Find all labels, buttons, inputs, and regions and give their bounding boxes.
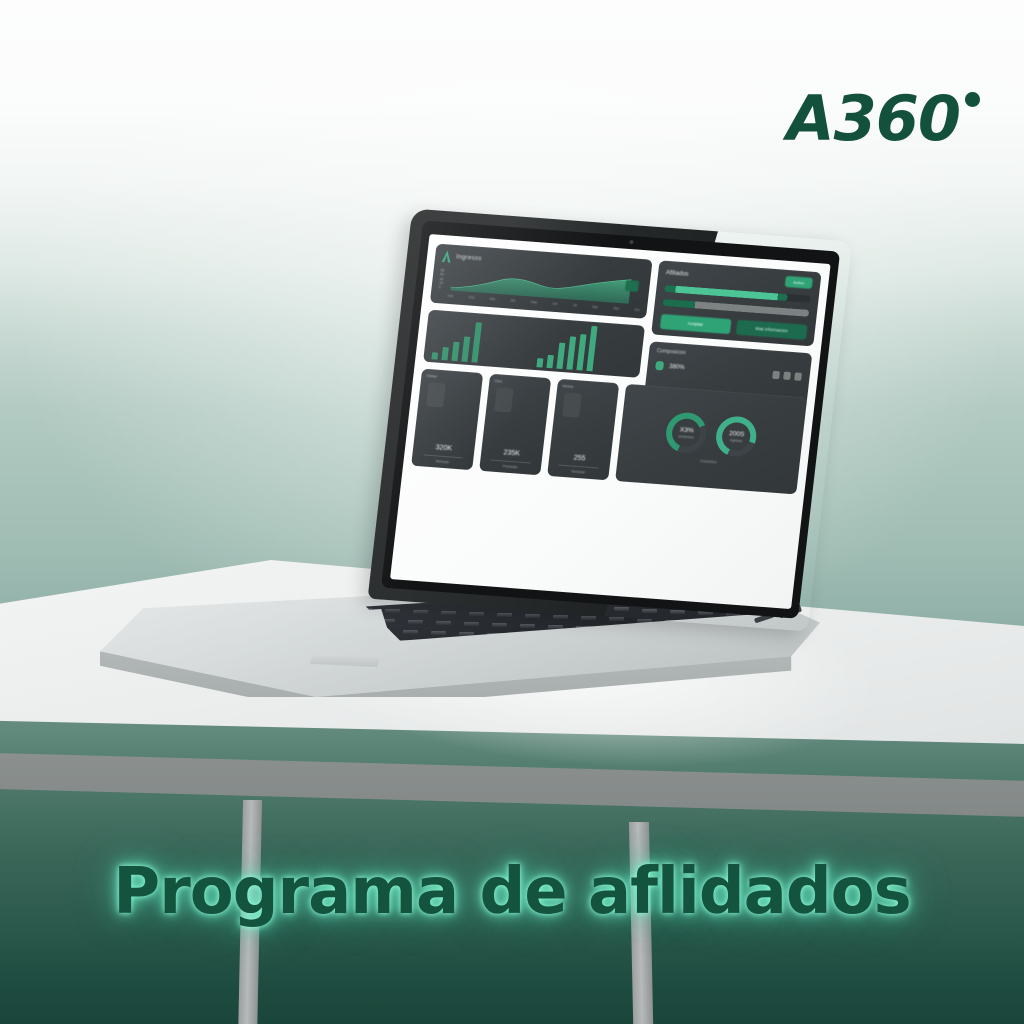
stat-card[interactable]: Clics 235K Promedio bbox=[479, 374, 551, 476]
chart-tooltip bbox=[624, 280, 638, 292]
stat-thumbnail bbox=[494, 387, 514, 412]
webcam-icon bbox=[629, 240, 633, 244]
chart-x-tick: Sep bbox=[613, 306, 619, 310]
keyboard-key[interactable] bbox=[497, 613, 512, 617]
chart-x-tick: Jul bbox=[573, 303, 578, 307]
revenue-chart-card[interactable]: Ingresos 806040200 bbox=[430, 244, 652, 319]
chart-x-tick: Feb bbox=[469, 295, 475, 299]
bar bbox=[576, 334, 586, 370]
accept-button[interactable]: Aceptar bbox=[659, 314, 731, 334]
avatar-icon-3 bbox=[794, 372, 802, 381]
bars-chart-card[interactable] bbox=[423, 310, 645, 378]
affiliate-header: Afiliados Activo bbox=[665, 267, 813, 289]
stat-value: 235K bbox=[503, 449, 520, 457]
laptop: Ingresos 806040200 bbox=[100, 225, 880, 695]
chart-x-tick: Mar bbox=[489, 297, 495, 301]
chart-title: Ingresos bbox=[456, 254, 482, 262]
gauge-group: X3% conversion 200S ingresos bbox=[664, 411, 759, 458]
affiliate-card[interactable]: Afiliados Activo Aceptar Mas informacion bbox=[651, 260, 822, 346]
stat-subtitle: Mensual bbox=[436, 459, 449, 464]
gauge-value: 200S bbox=[729, 430, 745, 438]
bar bbox=[451, 342, 459, 362]
stat-value: 320K bbox=[435, 444, 452, 452]
keyboard-key[interactable] bbox=[492, 623, 507, 627]
keyboard-key[interactable] bbox=[581, 616, 596, 620]
chart-x-tick: Ene bbox=[448, 294, 454, 298]
affiliate-actions: Aceptar Mas informacion bbox=[659, 314, 807, 340]
chart-x-tick: Oct bbox=[634, 308, 639, 312]
composition-value: 380% bbox=[669, 363, 685, 370]
bar bbox=[586, 326, 597, 371]
stat-subtitle: Promedio bbox=[503, 464, 518, 469]
stat-divider bbox=[559, 465, 599, 469]
gauge-label: ingresos bbox=[730, 438, 743, 443]
affiliate-title: Afiliados bbox=[666, 269, 689, 277]
brand-logo-text: A360 bbox=[787, 88, 960, 150]
a-mark-icon bbox=[442, 250, 452, 263]
poster-canvas: A360 bbox=[0, 0, 1024, 1024]
bar-group-a bbox=[431, 314, 531, 366]
gauge-conversion: X3% conversion bbox=[664, 411, 709, 454]
chart-x-tick: Ago bbox=[592, 305, 598, 309]
stat-thumbnail bbox=[562, 392, 582, 417]
stat-tag: Ventas bbox=[562, 384, 573, 389]
keyboard-key[interactable] bbox=[431, 631, 446, 635]
bar bbox=[546, 354, 554, 368]
stat-tag: Visitas bbox=[426, 374, 437, 379]
bar bbox=[536, 358, 543, 367]
degree-dot-icon bbox=[965, 92, 980, 107]
chart-x-tick: Abr bbox=[510, 299, 515, 303]
stat-thumbnail bbox=[426, 382, 446, 407]
dashboard-right-column: Afiliados Activo Aceptar Mas informacion bbox=[646, 260, 822, 390]
laptop-screen[interactable]: Ingresos 806040200 bbox=[390, 234, 831, 609]
stat-card[interactable]: Visitas 320K Mensual bbox=[411, 369, 483, 471]
gauge-revenue: 200S ingresos bbox=[714, 415, 759, 458]
gauges-card[interactable]: X3% conversion 200S ingresos bbox=[615, 384, 808, 495]
bar bbox=[471, 322, 482, 363]
keyboard-key[interactable] bbox=[464, 622, 479, 626]
bar bbox=[441, 346, 449, 360]
stat-tag: Clics bbox=[494, 379, 502, 384]
stat-subtitle: Semanal bbox=[571, 470, 585, 475]
stat-divider bbox=[491, 459, 531, 463]
gauge-value: X3% bbox=[680, 426, 695, 434]
keyboard-key[interactable] bbox=[553, 615, 568, 619]
stat-card[interactable]: Ventas 255 Semanal bbox=[547, 379, 619, 481]
chart-y-tick: 0 bbox=[438, 285, 447, 290]
affiliate-status-badge[interactable]: Activo bbox=[785, 276, 813, 289]
keyboard-key[interactable] bbox=[436, 621, 451, 625]
keyboard-key[interactable] bbox=[413, 610, 428, 614]
keyboard-key[interactable] bbox=[469, 612, 484, 616]
keyboard-key[interactable] bbox=[520, 624, 535, 628]
bar bbox=[566, 337, 576, 370]
stat-divider bbox=[423, 454, 463, 458]
chart-x-tick: Jun bbox=[552, 302, 558, 306]
keyboard-key[interactable] bbox=[403, 630, 418, 634]
laptop-bezel: Ingresos 806040200 bbox=[381, 220, 840, 618]
progress-bar-secondary bbox=[662, 299, 809, 317]
keyboard-key[interactable] bbox=[525, 614, 540, 618]
chart-x-tick: May bbox=[531, 300, 537, 304]
laptop-lid: Ingresos 806040200 bbox=[368, 209, 853, 632]
dashboard-top-row: Ingresos 806040200 bbox=[423, 244, 822, 391]
bar bbox=[431, 352, 438, 359]
avatar-icon-1 bbox=[772, 370, 780, 379]
bar bbox=[461, 337, 470, 362]
avatar-icon-2 bbox=[783, 371, 791, 380]
page-title: Programa de aflidados bbox=[0, 855, 1024, 929]
more-info-button[interactable]: Mas informacion bbox=[736, 320, 808, 340]
stat-value: 255 bbox=[573, 455, 585, 463]
gauges-footer: Estadistica bbox=[700, 459, 717, 464]
gauge-label: conversion bbox=[678, 434, 694, 439]
keyboard-key[interactable] bbox=[441, 611, 456, 615]
composition-row: 380% bbox=[655, 361, 802, 381]
composition-icon-group[interactable] bbox=[772, 370, 802, 380]
keyboard-key[interactable] bbox=[609, 617, 624, 621]
dashboard-left-column: Ingresos 806040200 bbox=[423, 244, 652, 378]
keyboard-key[interactable] bbox=[385, 609, 400, 613]
composition-swatch-icon bbox=[655, 361, 664, 371]
keyboard-key[interactable] bbox=[408, 620, 423, 624]
brand-logo: A360 bbox=[787, 88, 980, 150]
bar-group-b bbox=[536, 322, 636, 374]
bar bbox=[556, 343, 565, 369]
